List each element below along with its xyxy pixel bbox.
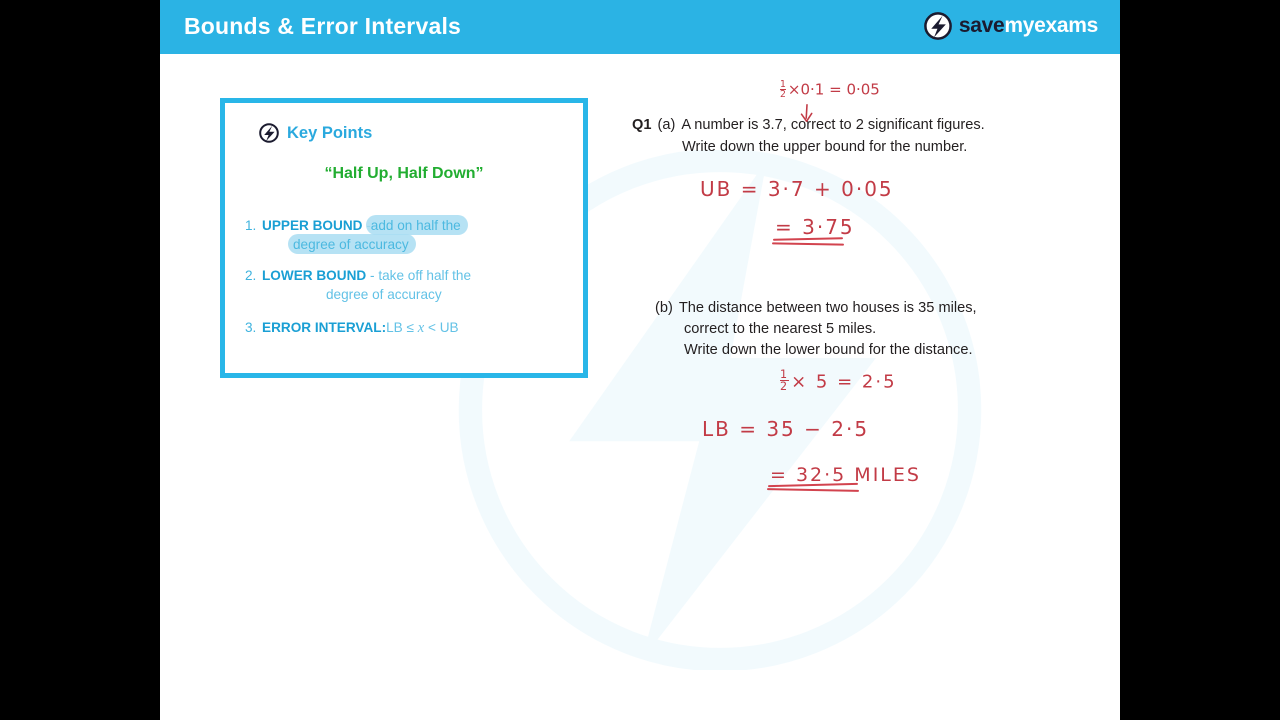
key-points-item-1-term: UPPER BOUND	[262, 218, 362, 233]
lightning-bolt-circle-icon	[259, 123, 279, 143]
question-part-a-line1: Q1 (a) A number is 3.7, correct to 2 sig…	[632, 114, 1052, 136]
fraction-denominator: 2	[780, 89, 786, 99]
down-arrow-icon	[799, 104, 815, 126]
key-points-heading: Key Points	[259, 123, 372, 143]
key-points-subtitle: “Half Up, Half Down”	[225, 165, 583, 183]
key-points-item-3-term: ERROR INTERVAL:	[262, 320, 386, 335]
key-points-item-3: 3. ERROR INTERVAL:LB ≤ x < UB	[245, 318, 459, 338]
logo-text-save: save	[959, 14, 1005, 37]
slide-canvas: Bounds & Error Intervals savemyexams	[160, 0, 1120, 720]
annotation-half-times-point-one: 1 2 ×0·1 = 0·05	[780, 80, 880, 100]
key-points-item-2-content: LOWER BOUND - take off half the degree o…	[262, 266, 471, 304]
key-points-item-3-content: ERROR INTERVAL:LB ≤ x < UB	[262, 318, 459, 338]
question-number: Q1	[632, 114, 651, 136]
fraction-numerator: 1	[780, 369, 789, 380]
question-part-a-text2: Write down the upper bound for the numbe…	[632, 136, 1052, 158]
slide-stage: Bounds & Error Intervals savemyexams	[0, 0, 1280, 720]
slide-header-bar: Bounds & Error Intervals savemyexams	[160, 0, 1120, 54]
answer-underline-lower-bound-2	[767, 488, 859, 492]
question-part-a: Q1 (a) A number is 3.7, correct to 2 sig…	[632, 114, 1052, 158]
key-points-item-2-number: 2.	[245, 266, 262, 304]
fraction-one-half: 1 2	[780, 369, 789, 393]
key-points-item-1-body-line1: add on half the	[371, 216, 461, 235]
brand-logo-text: savemyexams	[959, 14, 1098, 38]
annotation-half-times-five-rest: × 5 = 2·5	[791, 371, 896, 392]
key-points-item-2: 2. LOWER BOUND - take off half the degre…	[245, 266, 471, 304]
question-part-a-label: (a)	[657, 114, 675, 136]
fraction-one-half: 1 2	[780, 80, 786, 100]
key-points-item-3-body-pre: LB ≤	[386, 320, 418, 335]
logo-text-exams: exams	[1034, 14, 1098, 37]
key-points-item-1-number: 1.	[245, 216, 262, 254]
logo-text-my: my	[1004, 14, 1034, 37]
key-points-item-1-content: UPPER BOUND -add on half the degree of a…	[262, 216, 461, 254]
key-points-item-2-body-line1: take off half the	[378, 268, 471, 283]
lightning-bolt-circle-icon	[924, 12, 952, 40]
annotation-lower-bound-line1: LB = 35 − 2·5	[702, 417, 869, 441]
key-points-item-2-body-line2: degree of accuracy	[262, 285, 471, 304]
page-title: Bounds & Error Intervals	[184, 13, 461, 40]
annotation-half-times-five: 1 2 × 5 = 2·5	[780, 369, 897, 393]
question-part-b: (b) The distance between two houses is 3…	[655, 298, 1055, 361]
annotation-upper-bound-line2: = 3·75	[775, 215, 855, 239]
fraction-numerator: 1	[780, 80, 786, 89]
key-points-heading-label: Key Points	[287, 124, 372, 143]
question-part-a-text1: A number is 3.7, correct to 2 significan…	[681, 114, 984, 136]
question-part-b-text1: The distance between two houses is 35 mi…	[679, 298, 977, 319]
answer-underline-upper-bound-1	[773, 237, 843, 240]
question-part-b-line1: (b) The distance between two houses is 3…	[655, 298, 1055, 319]
key-points-item-3-body-post: < UB	[424, 320, 458, 335]
fraction-denominator: 2	[780, 380, 789, 392]
question-part-b-label: (b)	[655, 298, 673, 319]
question-part-b-text2: correct to the nearest 5 miles.	[655, 319, 1055, 340]
key-points-item-2-dash: -	[370, 268, 375, 283]
key-points-item-1: 1. UPPER BOUND -add on half the degree o…	[245, 216, 461, 254]
key-points-item-1-body-line2: degree of accuracy	[293, 235, 409, 254]
key-points-item-3-number: 3.	[245, 318, 262, 338]
brand-logo: savemyexams	[924, 11, 1098, 41]
key-points-box: Key Points “Half Up, Half Down” 1. UPPER…	[220, 98, 588, 378]
annotation-upper-bound-line1: UB = 3·7 + 0·05	[700, 177, 894, 201]
question-part-b-text3: Write down the lower bound for the dista…	[655, 340, 1055, 361]
answer-underline-upper-bound-2	[772, 242, 844, 245]
key-points-item-2-term: LOWER BOUND	[262, 268, 366, 283]
annotation-half-times-point-one-rest: ×0·1 = 0·05	[788, 80, 880, 98]
